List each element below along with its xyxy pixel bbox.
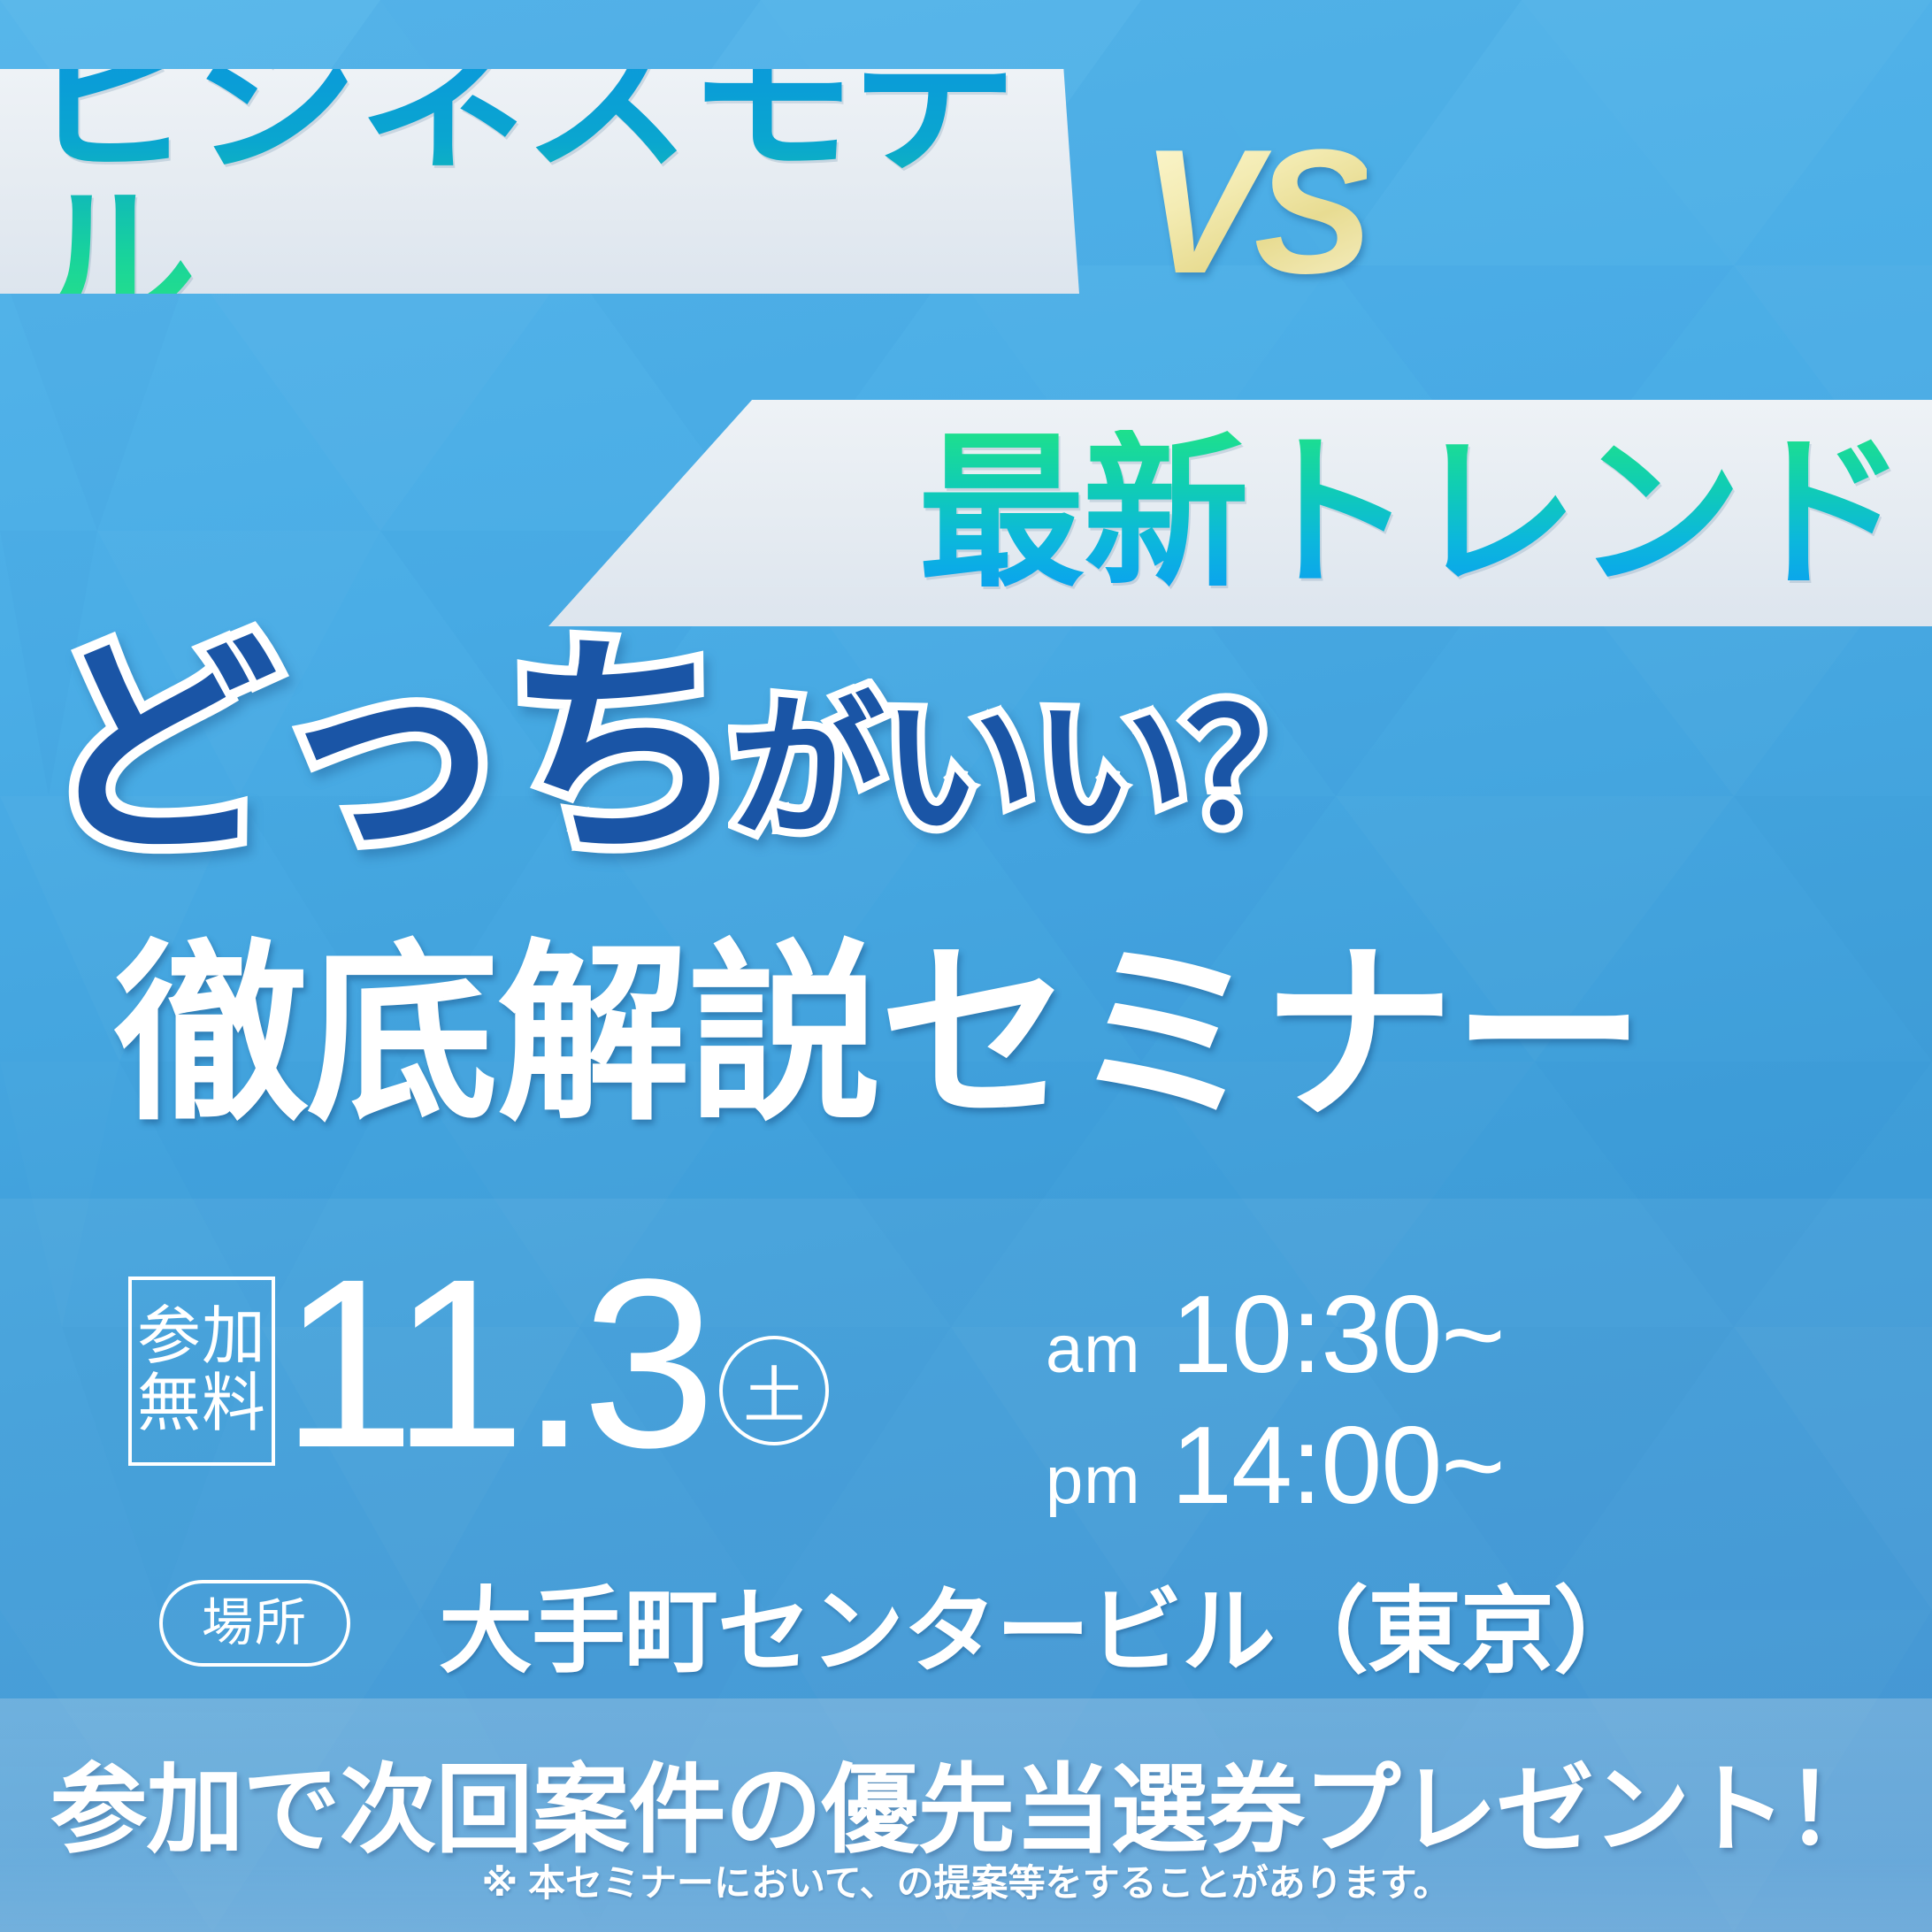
event-times: am 10:30~ pm 14:00~ <box>1046 1272 1505 1534</box>
date-value: 11.3 <box>281 1249 710 1477</box>
time-value-pm: 14:00~ <box>1171 1403 1505 1529</box>
ribbon-business-model: ビジネスモデル <box>0 69 1079 294</box>
subheadline: 徹底解説セミナー <box>115 939 1644 1132</box>
free-badge-line2: 無料 <box>137 1371 266 1438</box>
seminar-poster: ビジネスモデル VS 最新トレンド どっち がいい？ 徹底解説セミナー 参加 無… <box>0 0 1932 1932</box>
free-admission-badge: 参加 無料 <box>128 1276 275 1466</box>
present-message: 参加で次回案件の優先当選券プレゼント！ <box>0 1730 1932 1872</box>
time-row-am: am 10:30~ <box>1046 1272 1505 1398</box>
fineprint-note: ※ 本セミナーにおいて、の提案等をすることがあります。 <box>0 1853 1932 1907</box>
free-badge-line1: 参加 <box>137 1304 266 1371</box>
headline-main: どっち <box>41 635 736 862</box>
time-period-pm: pm <box>1046 1442 1171 1519</box>
time-value-am: 10:30~ <box>1171 1272 1505 1398</box>
day-of-week-badge: 土 <box>719 1336 829 1445</box>
headline-suffix: がいい？ <box>729 691 1338 847</box>
ribbon-right-label: 最新トレンド <box>918 430 1932 596</box>
time-row-pm: pm 14:00~ <box>1046 1403 1505 1529</box>
ribbon-latest-trend: 最新トレンド <box>548 400 1932 626</box>
time-period-am: am <box>1046 1311 1171 1388</box>
place-label-pill: 場所 <box>159 1580 350 1667</box>
event-place: 場所 大手町センタービル（東京） <box>159 1555 1646 1691</box>
headline: どっち がいい？ <box>41 635 1338 862</box>
place-name: 大手町センタービル（東京） <box>439 1555 1646 1691</box>
event-date: 11.3 土 <box>281 1249 829 1477</box>
versus-label: VS <box>1141 124 1367 301</box>
